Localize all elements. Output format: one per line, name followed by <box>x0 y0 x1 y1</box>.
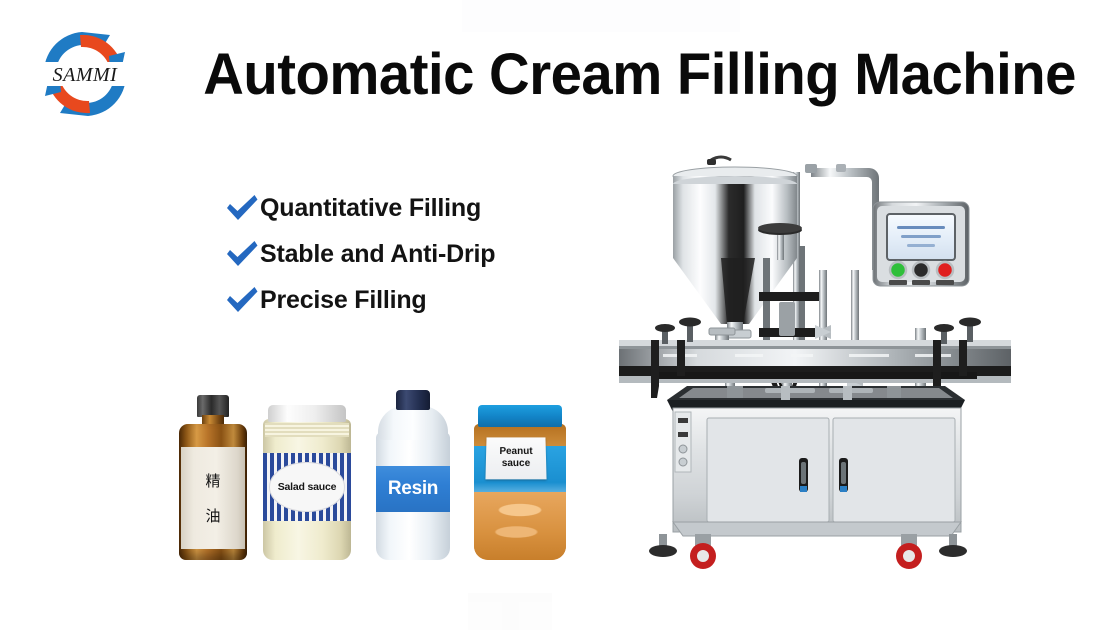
stainless-steel-cabinet <box>673 408 961 536</box>
label-line-1: Peanut <box>499 446 532 458</box>
start-button <box>890 262 906 278</box>
feature-label: Stable and Anti-Drip <box>260 240 495 269</box>
jar-lid <box>478 405 562 427</box>
machine-illustration <box>615 150 1015 570</box>
bottle-cap <box>197 395 229 417</box>
jar-threads <box>265 423 349 437</box>
essential-oil-bottle: 精 油 <box>175 395 251 560</box>
feature-label: Precise Filling <box>260 286 427 315</box>
label-line-2: 油 <box>205 505 220 526</box>
watermark-bottom <box>468 593 552 630</box>
peanut-butter-swirl <box>474 492 566 560</box>
page-title: Automatic Cream Filling Machine <box>203 44 1057 106</box>
bottle-label: Resin <box>376 466 450 512</box>
feature-list: Quantitative Filling Stable and Anti-Dri… <box>224 186 495 324</box>
casters-and-feet <box>649 534 967 569</box>
check-icon <box>224 285 260 315</box>
list-item: Quantitative Filling <box>224 186 495 230</box>
jar-label: Peanut sauce <box>485 437 546 479</box>
resin-bottle: Resin <box>370 390 456 560</box>
peanut-sauce-jar: Peanut sauce <box>470 405 570 560</box>
product-banner: SAMMI Automatic Cream Filling Machine Qu… <box>0 0 1120 630</box>
jar-lid <box>268 405 346 422</box>
mode-button <box>913 262 929 278</box>
watermark-top <box>462 0 740 32</box>
label-line-2: sauce <box>502 458 531 470</box>
check-icon <box>224 193 260 223</box>
bottle-label: 精 油 <box>181 447 245 549</box>
automatic-cream-filling-machine <box>615 150 1015 570</box>
jar-label: Salad sauce <box>269 462 345 512</box>
check-icon <box>224 239 260 269</box>
brand-logo: SAMMI <box>30 26 140 122</box>
product-samples: 精 油 Salad sauce Resin <box>165 375 585 560</box>
stop-button <box>937 262 953 278</box>
list-item: Stable and Anti-Drip <box>224 232 495 276</box>
feature-label: Quantitative Filling <box>260 194 481 223</box>
salad-sauce-jar: Salad sauce <box>260 405 354 560</box>
list-item: Precise Filling <box>224 278 495 322</box>
label-line-1: 精 <box>205 470 220 491</box>
bottle-shoulder <box>378 406 448 440</box>
bottle-cap <box>396 390 430 410</box>
brand-name: SAMMI <box>30 64 140 87</box>
